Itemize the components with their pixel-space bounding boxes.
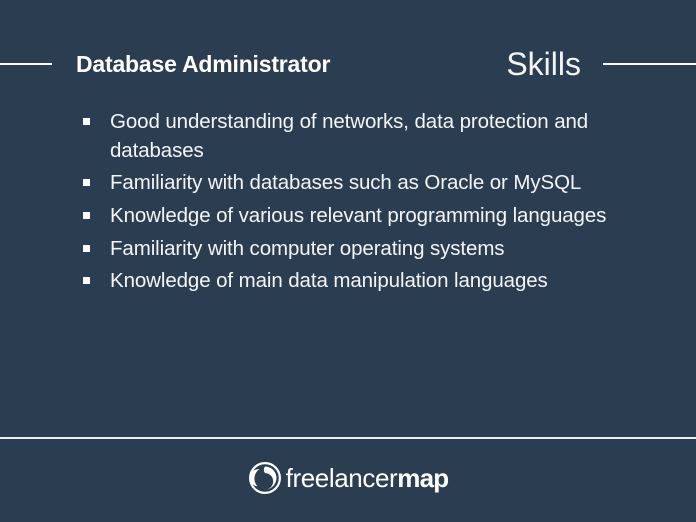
square-bullet-icon [83, 245, 90, 252]
logo-word-map: map [397, 463, 448, 493]
page-title: Database Administrator [76, 53, 330, 76]
footer-divider [0, 437, 696, 439]
logo-wordmark: freelancermap [286, 465, 449, 491]
slide: Database Administrator Skills Good under… [0, 0, 696, 522]
list-item: Familiarity with computer operating syst… [82, 235, 662, 264]
slide-header: Database Administrator Skills [0, 42, 696, 86]
list-item-label: Good understanding of networks, data pro… [110, 110, 588, 162]
section-label: Skills [506, 48, 581, 80]
list-item-label: Familiarity with computer operating syst… [110, 237, 504, 260]
square-bullet-icon [83, 212, 90, 219]
square-bullet-icon [83, 277, 90, 284]
slide-footer: freelancermap [0, 452, 696, 504]
header-right-rule [603, 63, 696, 65]
list-item-label: Familiarity with databases such as Oracl… [110, 171, 581, 194]
list-item: Good understanding of networks, data pro… [82, 108, 662, 165]
list-item-label: Knowledge of main data manipulation lang… [110, 269, 548, 292]
list-item: Knowledge of main data manipulation lang… [82, 267, 662, 296]
logo-word-freelancer: freelancer [286, 463, 398, 493]
square-bullet-icon [83, 118, 90, 125]
skills-list: Good understanding of networks, data pro… [82, 108, 662, 300]
freelancermap-logo: freelancermap [248, 461, 449, 495]
list-item-label: Knowledge of various relevant programmin… [110, 204, 606, 227]
list-item: Knowledge of various relevant programmin… [82, 202, 662, 231]
square-bullet-icon [83, 179, 90, 186]
freelancermap-swirl-icon [248, 461, 282, 495]
header-left-rule [0, 63, 52, 65]
list-item: Familiarity with databases such as Oracl… [82, 169, 662, 198]
